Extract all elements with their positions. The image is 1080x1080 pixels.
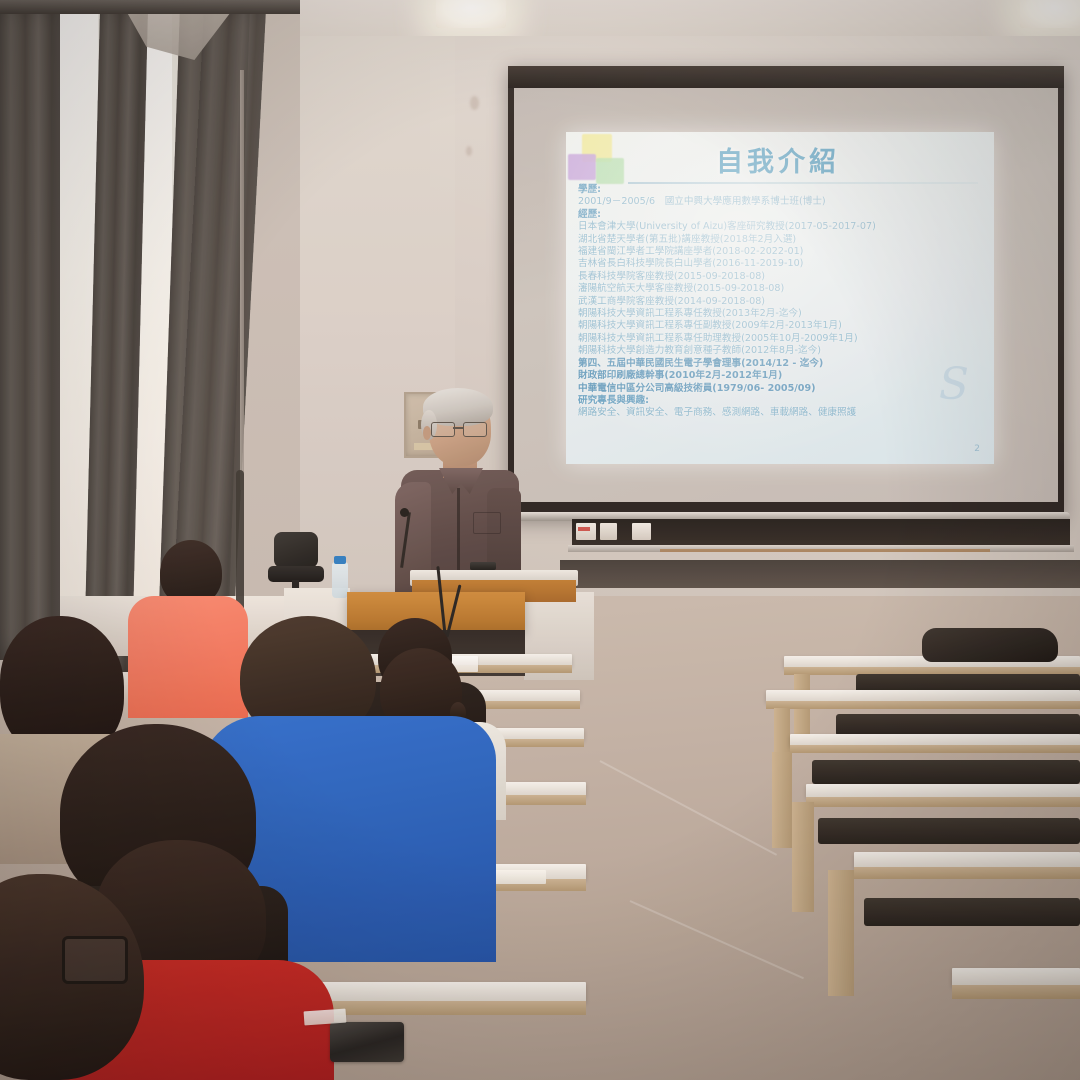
slide-line: 朝陽科技大學資訊工程系專任助理教授(2005年10月-2009年1月) — [578, 333, 988, 345]
slide-line: 經歷: — [578, 209, 988, 221]
shirt-pocket — [473, 512, 501, 534]
lens-left — [431, 422, 455, 437]
ceiling-light-2 — [1020, 0, 1080, 28]
curtain-rod — [0, 0, 300, 14]
wall-baseboard — [560, 560, 1080, 588]
slide-line: 2001/9－2005/6 國立中興大學應用數學系博士班(博士) — [578, 196, 988, 208]
slide-line: 湖北省楚天學者(第五批)講座教授(2018年2月入選) — [578, 234, 988, 246]
desk-edge — [806, 797, 1080, 807]
projection-screen: 自我介紹 學歷: 2001/9－2005/6 國立中興大學應用數學系博士班(博士… — [508, 66, 1064, 518]
green-square-icon — [596, 158, 624, 184]
ceiling-light-1 — [436, 0, 506, 28]
slide-line: 朝陽科技大學資訊工程系專任教授(2013年2月-迄今) — [578, 308, 988, 320]
slide-line: 日本會津大學(University of Aizu)客座研究教授(2017-05… — [578, 221, 988, 233]
chalk-box[interactable] — [600, 523, 617, 540]
slide-title: 自我介紹 — [716, 140, 840, 179]
wall-blemish — [470, 96, 479, 110]
slide-line: 學歷: — [578, 184, 988, 196]
notebook[interactable] — [494, 870, 546, 884]
slide-line: 第四、五屆中華民國民生電子學會理事(2014/12 - 迄今) — [578, 358, 988, 370]
desk-edge — [766, 701, 1080, 709]
lens-right — [463, 422, 487, 437]
smartphone-on-podium[interactable] — [470, 562, 496, 570]
paper-sheet[interactable] — [304, 1009, 347, 1026]
microphone-icon[interactable] — [400, 508, 409, 517]
bottle-cap[interactable] — [334, 556, 346, 564]
bench-seat[interactable] — [812, 760, 1080, 784]
bench-seat[interactable] — [818, 818, 1080, 844]
black-bag[interactable] — [922, 628, 1058, 662]
curtain-panel[interactable] — [0, 0, 60, 660]
desk-edge — [854, 867, 1080, 879]
water-bottle[interactable] — [332, 562, 348, 598]
desk-leg — [828, 870, 854, 996]
slide-page-number: 2 — [974, 444, 980, 454]
slide-line: 福建省閩江學者工學院講座學者(2018-02-2022-01) — [578, 246, 988, 258]
attendee-with-glasses — [0, 874, 156, 1080]
slide-line: 朝陽科技大學資訊工程系專任副教授(2009年2月-2013年1月) — [578, 320, 988, 332]
speaker-ear — [423, 426, 431, 440]
screen-surface: 自我介紹 學歷: 2001/9－2005/6 國立中興大學應用數學系博士班(博士… — [514, 88, 1058, 502]
ledge-trim — [660, 549, 990, 552]
chalk-box[interactable] — [576, 523, 596, 540]
slide-line: 吉林省長白科技學院長白山學者(2016-11-2019-10) — [578, 258, 988, 270]
desk-edge — [790, 745, 1080, 753]
purple-square-icon — [568, 154, 596, 180]
slide-line: 中華電信中區分公司高級技術員(1979/06- 2005/09) — [578, 383, 988, 395]
chalk-box[interactable] — [632, 523, 651, 540]
chair-backrest — [274, 532, 318, 568]
slide-line: 武漢工商學院客座教授(2014-09-2018-08) — [578, 296, 988, 308]
slide-watermark: S — [939, 359, 970, 410]
eyeglasses-icon — [62, 936, 128, 984]
desk-leg — [792, 802, 814, 912]
slide-line: 瀋陽航空航天大學客座教授(2015-09-2018-08) — [578, 283, 988, 295]
slide-line: 網路安全、資訊安全、電子商務、感測網路、車載網路、健康照護 — [578, 407, 988, 419]
slide-line: 長春科技學院客座教授(2015-09-2018-08) — [578, 271, 988, 283]
smartphone-on-desk[interactable] — [330, 1022, 404, 1062]
desk-edge — [952, 985, 1080, 999]
desk-top — [806, 784, 1080, 798]
screen-top-bar — [508, 66, 1064, 88]
desk-leg — [772, 752, 792, 848]
bench-seat[interactable] — [864, 898, 1080, 926]
wall-blemish — [466, 146, 472, 156]
wall-conduit — [240, 70, 244, 490]
eyeglasses-icon — [431, 422, 487, 435]
bench-seat[interactable] — [836, 714, 1080, 736]
slide-line: 研究專長與興趣: — [578, 395, 988, 407]
slide-line: 朝陽科技大學創造力教育創意種子教師(2012年8月-迄今) — [578, 345, 988, 357]
presentation-slide: 自我介紹 學歷: 2001/9－2005/6 國立中興大學應用數學系博士班(博士… — [566, 132, 994, 464]
desk-top — [854, 852, 1080, 868]
slide-body: 學歷: 2001/9－2005/6 國立中興大學應用數學系博士班(博士) 經歷:… — [578, 184, 988, 420]
slide-line: 財政部印刷廠總幹事(2010年2月-2012年1月) — [578, 370, 988, 382]
desk-top — [952, 968, 1080, 986]
lecture-hall-photo: 自我介紹 學歷: 2001/9－2005/6 國立中興大學應用數學系博士班(博士… — [0, 0, 1080, 1080]
glasses-bridge — [453, 427, 463, 429]
office-chair[interactable] — [268, 532, 326, 596]
